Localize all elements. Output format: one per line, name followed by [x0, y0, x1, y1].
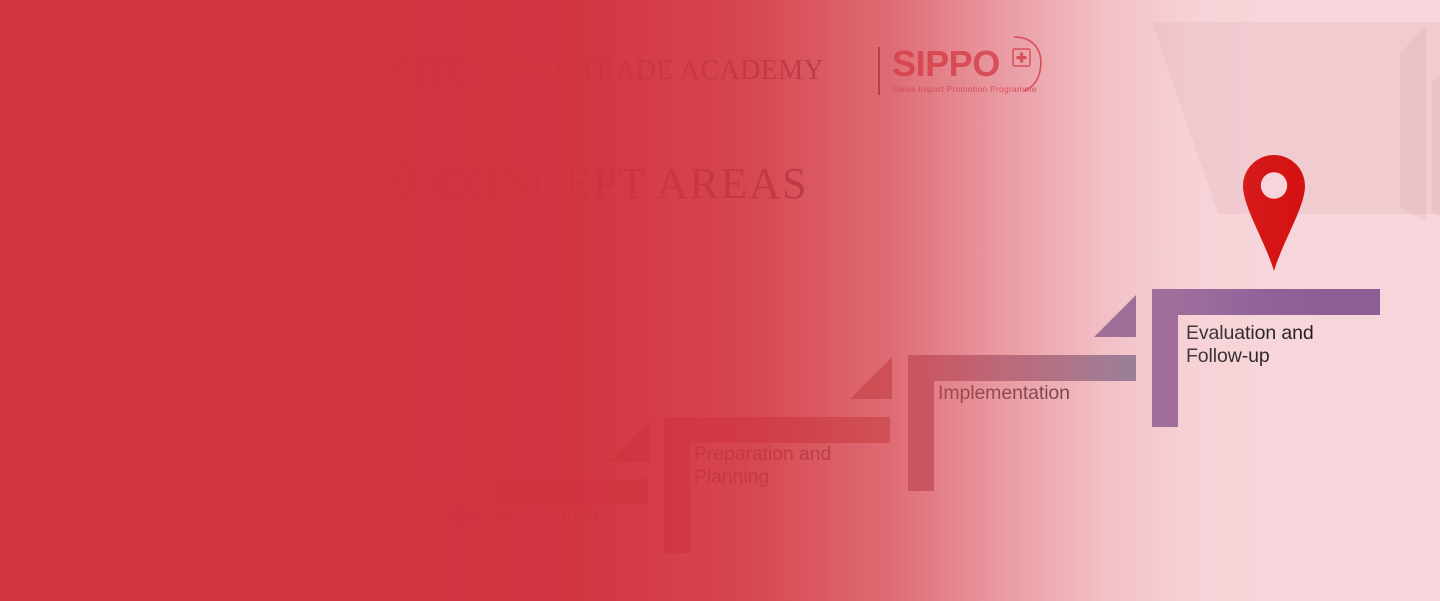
sippo-logo: SIPPO Swiss Import Promotion Programme: [878, 47, 1037, 95]
step-concept-creation[interactable]: [422, 479, 648, 601]
sippo-divider-bar: [878, 47, 880, 95]
step-label-implementation: Implementation: [938, 382, 1070, 405]
step-label-concept-creation: Concept creation: [452, 504, 598, 527]
page-title-row: CONCEPT AREAS: [382, 158, 808, 209]
step-riser-concept-creation: [608, 420, 650, 462]
step-riser-preparation-planning: [850, 357, 892, 399]
map-pin-filled-icon: [1243, 155, 1305, 271]
itc-wordmark: ITC: [415, 53, 468, 89]
step-bar-vertical: [422, 479, 448, 601]
step-bar-horizontal: [908, 355, 1136, 381]
header-divider-1: [490, 50, 491, 92]
step-bar-vertical: [1152, 289, 1178, 427]
slide-canvas: Concept creation Preparation and Plannin…: [0, 0, 1440, 601]
arc-swoosh-icon: [1000, 33, 1046, 93]
step-label-evaluation-followup: Evaluation and Follow-up: [1186, 322, 1314, 368]
itc-crossed-bars-icon: [382, 58, 408, 84]
step-bar-vertical: [908, 355, 934, 491]
itc-logo: ITC: [382, 53, 468, 89]
map-pin-outline-icon: [382, 162, 416, 206]
sme-trade-academy-wordmark: SME TRADE ACADEMY: [513, 55, 824, 87]
page-title: CONCEPT AREAS: [436, 158, 808, 209]
header-logos: ITC SME TRADE ACADEMY SIPPO Swiss Import…: [382, 45, 1037, 97]
step-riser-implementation: [1094, 295, 1136, 337]
step-implementation[interactable]: [908, 355, 1136, 491]
step-label-preparation-planning: Preparation and Planning: [694, 443, 831, 489]
step-bar-vertical: [664, 417, 690, 553]
step-bar-horizontal: [1152, 289, 1380, 315]
step-bar-horizontal: [422, 479, 648, 505]
step-bar-horizontal: [664, 417, 890, 443]
